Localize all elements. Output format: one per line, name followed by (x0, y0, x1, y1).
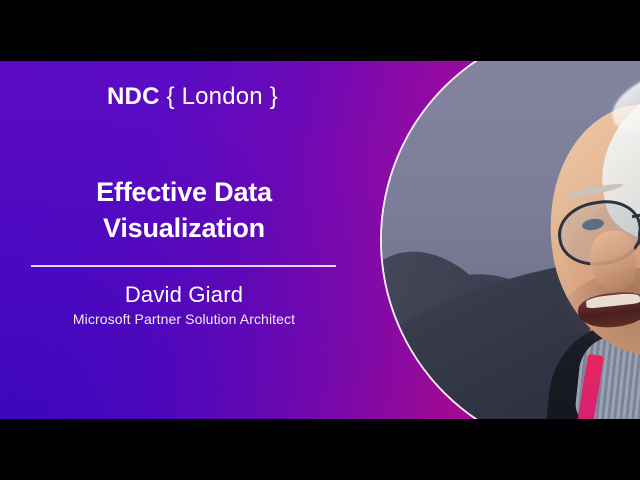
talk-title: Effective Data Visualization (0, 174, 368, 246)
slide-text-column: NDC { London } Effective Data Visualizat… (0, 61, 368, 419)
ndc-logo-city: { London } (166, 83, 277, 110)
letterbox-bar-bottom (0, 419, 640, 480)
talk-title-line-1: Effective Data (0, 174, 368, 210)
ndc-london-logo: NDC { London } (107, 85, 278, 109)
letterbox-bar-top (0, 0, 640, 61)
speaker-name: David Giard (0, 282, 368, 308)
speaker-photo-image: NDC { London } David Giard Speaker ★ (382, 61, 640, 419)
slide-gradient-background: NDC { London } David Giard Speaker ★ NDC… (0, 61, 640, 419)
conference-talk-slide: NDC { London } David Giard Speaker ★ NDC… (0, 0, 640, 480)
speaker-photo-circle: NDC { London } David Giard Speaker ★ (382, 61, 640, 419)
ndc-logo-mark: NDC (107, 83, 160, 110)
speaker-role: Microsoft Partner Solution Architect (0, 311, 368, 328)
title-divider (31, 265, 336, 267)
talk-title-line-2: Visualization (0, 210, 368, 246)
